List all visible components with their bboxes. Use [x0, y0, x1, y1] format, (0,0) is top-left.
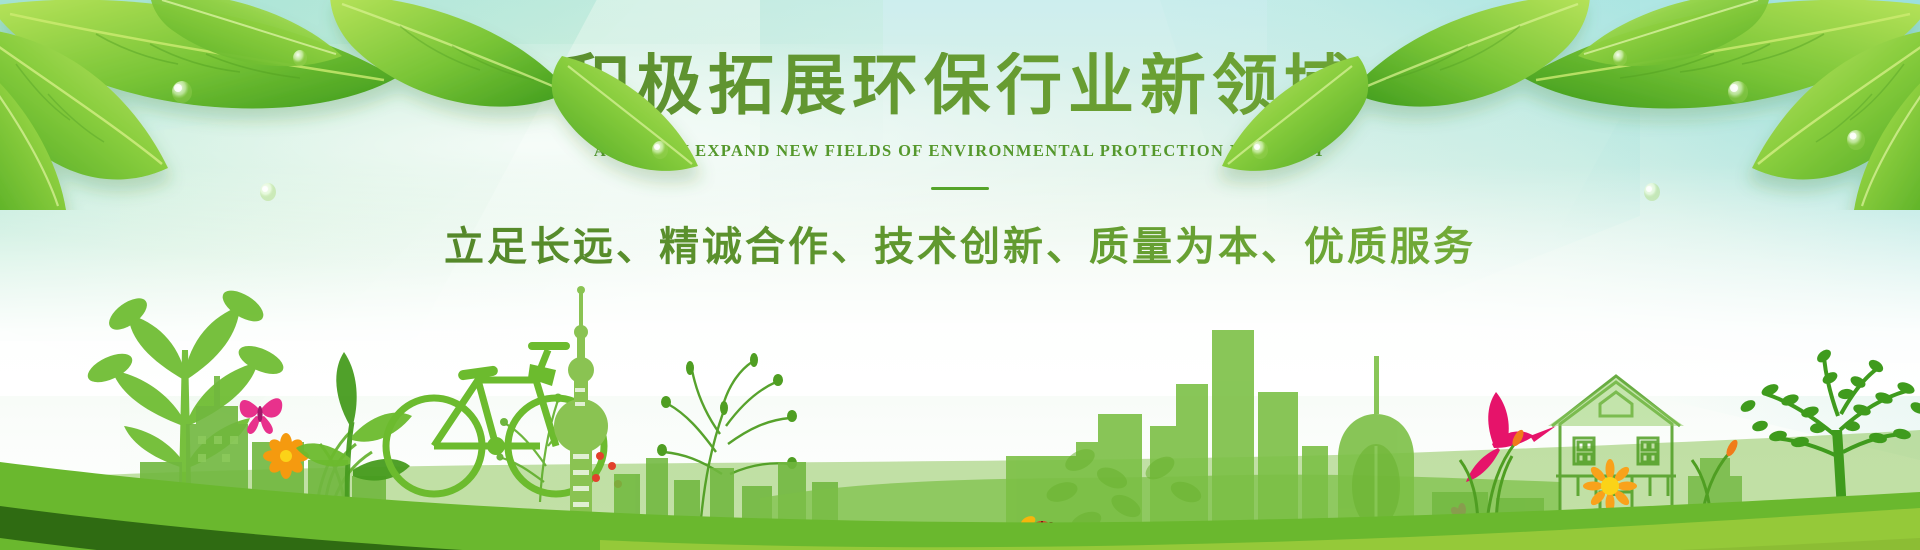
eco-banner: 积极拓展环保行业新领域 ACTIVELY EXPAND NEW FIELDS O… [0, 0, 1920, 550]
page-title: 积极拓展环保行业新领域 [0, 52, 1920, 121]
page-subtitle: ACTIVELY EXPAND NEW FIELDS OF ENVIRONMEN… [0, 141, 1920, 161]
title-divider [931, 187, 989, 190]
banner-text-block: 积极拓展环保行业新领域 ACTIVELY EXPAND NEW FIELDS O… [0, 52, 1920, 272]
slogan-text: 立足长远、精诚合作、技术创新、质量为本、优质服务 [0, 214, 1920, 272]
skyscraper-leaf-motif [1352, 444, 1400, 528]
skyscrapers [1006, 330, 1328, 550]
house-porch-roof [1548, 378, 1684, 426]
scenery-illustration [0, 230, 1920, 550]
